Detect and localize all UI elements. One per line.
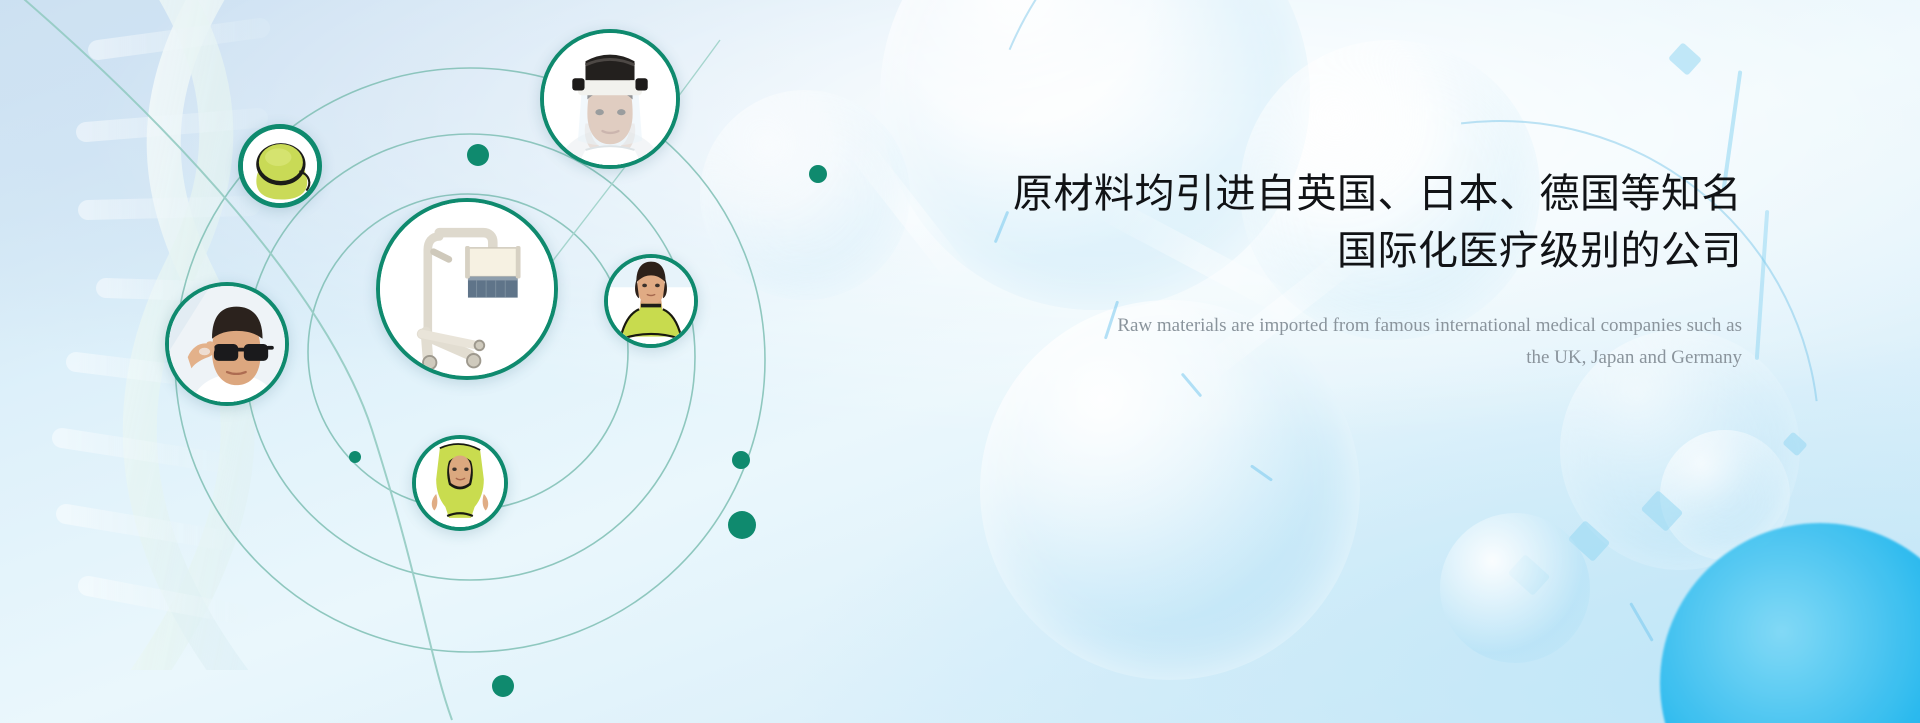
chip-mark [1782, 431, 1808, 456]
orbit-dot [467, 144, 489, 166]
chip-mark [1568, 520, 1611, 562]
orbit-dot [732, 451, 750, 469]
bubble-lead-glasses[interactable] [165, 282, 289, 406]
subtitle-line-2: the UK, Japan and Germany [952, 342, 1742, 375]
page-title: 原材料均引进自英国、日本、德国等知名 国际化医疗级别的公司 [952, 166, 1742, 280]
bubble-thyroid-collar[interactable] [604, 254, 698, 348]
orbit-dot [809, 165, 827, 183]
bubble-face-shield[interactable] [540, 29, 680, 169]
tick-mark [1755, 210, 1769, 360]
tick-mark [1181, 373, 1203, 398]
cyan-blob [1660, 523, 1920, 723]
orbit-dot [728, 511, 756, 539]
hero-banner: 原材料均引进自英国、日本、德国等知名 国际化医疗级别的公司 Raw materi… [0, 0, 1920, 723]
subtitle-line-1: Raw materials are imported from famous i… [952, 310, 1742, 343]
orbit-dot [492, 675, 514, 697]
tick-mark [1629, 602, 1654, 642]
bubble-lead-hood[interactable] [412, 435, 508, 531]
mobile-shield-photo-icon [380, 202, 554, 376]
molecule-sphere-icon [1660, 430, 1790, 560]
lead-cap-photo-icon [243, 129, 317, 203]
bubble-mobile-shield[interactable] [376, 198, 558, 380]
face-shield-photo-icon [544, 33, 676, 165]
thyroid-collar-photo-icon [608, 258, 694, 344]
subtitle: Raw materials are imported from famous i… [952, 310, 1742, 375]
lead-hood-photo-icon [416, 439, 504, 527]
light-bokeh [1440, 513, 1590, 663]
bubble-lead-cap[interactable] [238, 124, 322, 208]
headline-line-1: 原材料均引进自英国、日本、德国等知名 [952, 166, 1742, 223]
copy-block: 原材料均引进自英国、日本、德国等知名 国际化医疗级别的公司 Raw materi… [952, 166, 1742, 375]
headline-line-2: 国际化医疗级别的公司 [952, 223, 1742, 280]
lead-glasses-photo-icon [169, 286, 285, 402]
chip-mark [1508, 554, 1551, 596]
orbit-dot [349, 451, 361, 463]
chip-mark [1668, 42, 1702, 76]
tick-mark [1250, 464, 1273, 481]
chip-mark [1641, 490, 1684, 532]
